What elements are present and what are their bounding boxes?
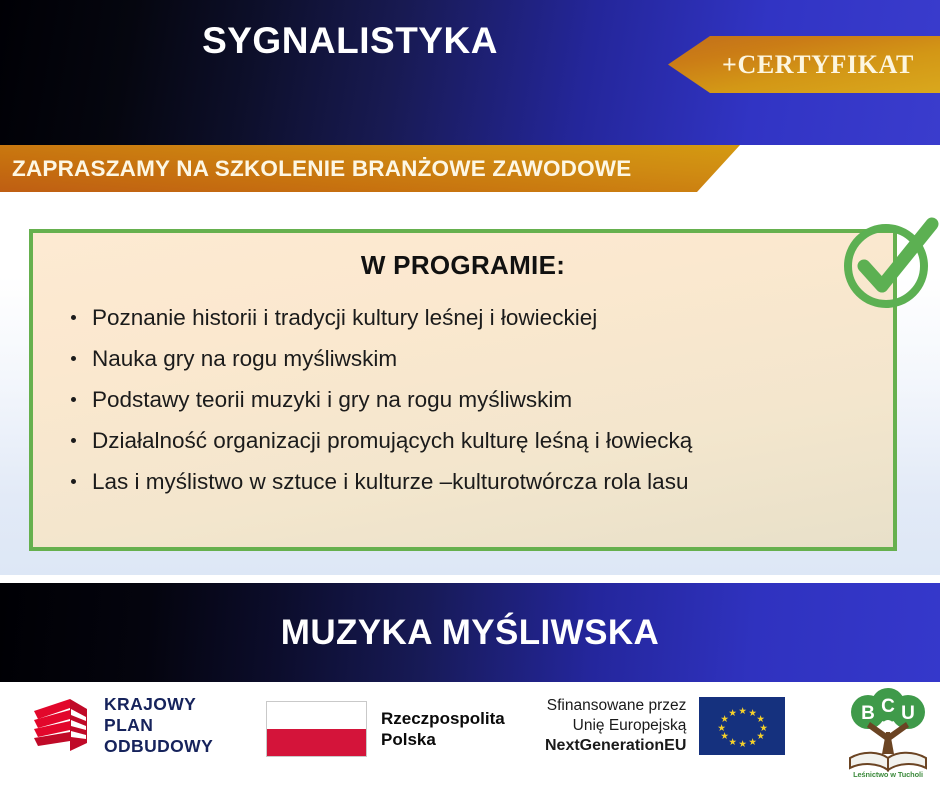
flag-stripe-white — [267, 702, 366, 729]
subtitle-band-label: MUZYKA MYŚLIWSKA — [281, 613, 659, 653]
eu-line-2: Unię Europejską — [545, 716, 686, 736]
list-item: Podstawy teorii muzyki i gry na rogu myś… — [59, 379, 893, 420]
poland-wordmark: Rzeczpospolita Polska — [381, 708, 505, 750]
list-item: Las i myślistwo w sztuce i kulturze –kul… — [59, 461, 893, 502]
svg-text:C: C — [881, 696, 895, 717]
list-item: Poznanie historii i tradycji kultury leś… — [59, 297, 893, 338]
footer-logos: KRAJOWY PLAN ODBUDOWY Rzeczpospolita Pol… — [0, 682, 940, 788]
kpo-line-3: ODBUDOWY — [104, 736, 213, 757]
svg-text:B: B — [861, 703, 875, 724]
program-heading: W PROGRAMIE: — [33, 250, 893, 281]
subtitle-band: MUZYKA MYŚLIWSKA — [0, 583, 940, 682]
green-check-circle-icon — [836, 214, 940, 318]
svg-text:U: U — [901, 703, 915, 724]
logo-rzeczpospolita-polska: Rzeczpospolita Polska — [266, 701, 505, 757]
poland-line-1: Rzeczpospolita — [381, 708, 505, 729]
certificate-badge: +CERTYFIKAT — [668, 36, 940, 93]
program-box: W PROGRAMIE: Poznanie historii i tradycj… — [29, 229, 897, 551]
bcu-caption: Leśnictwo w Tucholi — [840, 770, 936, 779]
poland-flag-icon — [266, 701, 367, 757]
poster-root: SYGNALISTYKA +CERTYFIKAT ZAPRASZAMY NA S… — [0, 0, 940, 788]
list-item: Nauka gry na rogu myśliwskim — [59, 338, 893, 379]
bcu-tree-icon: B C U — [840, 688, 936, 780]
certificate-badge-label: +CERTYFIKAT — [694, 50, 914, 80]
flag-stripe-red — [267, 729, 366, 756]
eu-flag-icon: ★ ★ ★ ★ ★ ★ ★ ★ ★ ★ ★ ★ — [699, 697, 785, 755]
eu-wordmark: Sfinansowane przez Unię Europejską NextG… — [545, 696, 686, 756]
logo-european-union: Sfinansowane przez Unię Europejską NextG… — [545, 696, 785, 756]
invitation-ribbon: ZAPRASZAMY NA SZKOLENIE BRANŻOWE ZAWODOW… — [0, 145, 740, 192]
kpo-wordmark: KRAJOWY PLAN ODBUDOWY — [104, 694, 213, 757]
kpo-line-2: PLAN — [104, 715, 213, 736]
eu-line-3: NextGenerationEU — [545, 736, 686, 756]
list-item: Działalność organizacji promujących kult… — [59, 420, 893, 461]
invitation-ribbon-label: ZAPRASZAMY NA SZKOLENIE BRANŻOWE ZAWODOW… — [0, 156, 631, 182]
logo-bcu-lesnictwo: B C U Leśnictwo w Tucholi — [840, 688, 936, 780]
kpo-mark-icon — [30, 695, 92, 757]
kpo-line-1: KRAJOWY — [104, 694, 213, 715]
page-title: SYGNALISTYKA — [0, 20, 700, 62]
logo-krajowy-plan-odbudowy: KRAJOWY PLAN ODBUDOWY — [30, 694, 213, 757]
eu-line-1: Sfinansowane przez — [545, 696, 686, 716]
program-list: Poznanie historii i tradycji kultury leś… — [33, 281, 893, 502]
poland-line-2: Polska — [381, 729, 505, 750]
